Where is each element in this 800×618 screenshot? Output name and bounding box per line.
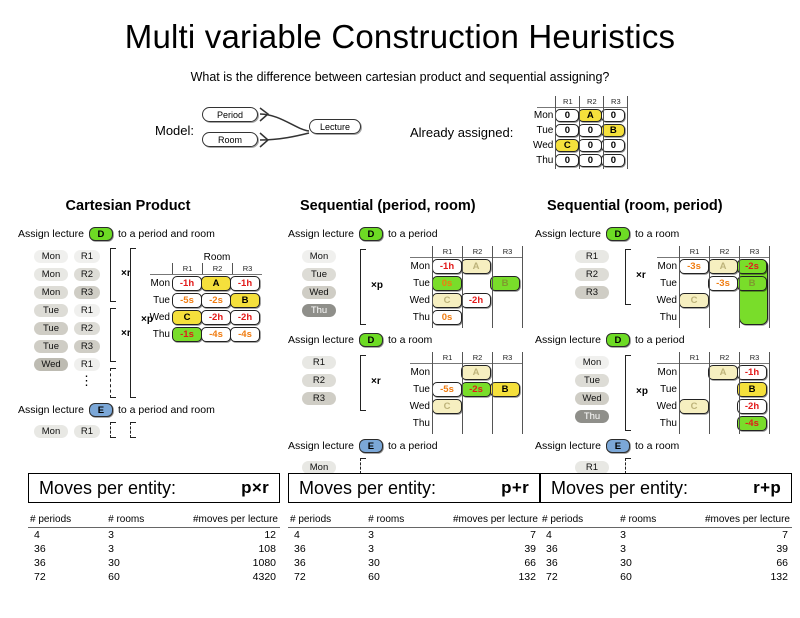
table-row: 4312 (28, 528, 280, 543)
assign-prefix-label: Assign lecture (18, 228, 84, 240)
grid-column-headers: R1R2R3 (679, 352, 769, 363)
already-assigned-label: Already assigned: (410, 125, 513, 140)
model-node-room[interactable]: Room (202, 132, 258, 147)
grid-vertical-rule (579, 96, 580, 169)
lecture-chip[interactable]: D (359, 227, 383, 241)
cell-periods: 36 (288, 556, 366, 570)
assign-prefix-label: Assign lecture (288, 334, 354, 346)
brace-outer-dashed (130, 422, 136, 438)
grid-cell[interactable]: -4s (737, 416, 767, 431)
assigned-grid-inner: R1R2R3Mon0A0Tue00BWedC00Thu000 (529, 96, 627, 168)
grid-cell[interactable]: A (461, 365, 491, 380)
already-assigned-block: Already assigned: R1R2R3Mon0A0Tue00BWedC… (410, 96, 627, 168)
grid-column-header: R3 (492, 352, 522, 363)
lecture-chip[interactable]: D (606, 227, 630, 241)
lecture-chip[interactable]: E (89, 403, 113, 417)
cell-moves: 66 (434, 556, 540, 570)
grid-cell[interactable]: 0 (578, 154, 602, 167)
lecture-chip[interactable]: D (606, 333, 630, 347)
cell-rooms: 3 (618, 542, 686, 556)
grid-cell[interactable]: -1h (172, 276, 202, 291)
grid-row: WedC00 (529, 138, 627, 153)
grid-cell[interactable]: -4s (230, 327, 260, 342)
grid-cell[interactable]: C (679, 399, 709, 414)
assign-suffix-label: to a period (388, 228, 438, 240)
candidate-tag[interactable]: R3 (575, 286, 609, 299)
grid-cell (461, 399, 491, 414)
table-header-rooms: # rooms (366, 513, 434, 528)
candidate-tag[interactable]: Wed (302, 286, 336, 299)
grid-row: WedC-2h-2h (142, 309, 262, 326)
list-item[interactable]: R2 (288, 370, 400, 388)
model-node-period[interactable]: Period (202, 107, 258, 122)
candidate-tag[interactable]: Mon (302, 250, 336, 263)
grid-column-header: R1 (172, 263, 202, 274)
grid-column-headers: R1R2R3 (555, 96, 627, 107)
grid-cell[interactable]: 0s (432, 276, 462, 291)
period-tag[interactable]: Wed (34, 358, 68, 371)
grid-cell[interactable]: -2h (201, 310, 231, 325)
list-item[interactable]: Mon (288, 246, 400, 264)
grid-cell[interactable]: 0 (601, 154, 625, 167)
brace-inner (360, 249, 366, 325)
table-row: 36339 (288, 542, 540, 556)
grid-vertical-rule (462, 246, 463, 328)
grid-cell[interactable]: -4s (201, 327, 231, 342)
moves-banner: Moves per entity:p×r (28, 473, 280, 503)
grid-cell (679, 310, 709, 325)
cell-periods: 4 (288, 528, 366, 543)
grid-row: Tue00B (529, 123, 627, 138)
grid-cell[interactable]: 0 (601, 139, 625, 152)
grid-cells: C-2h (432, 293, 522, 308)
period-tag[interactable]: Tue (34, 340, 68, 353)
assign-lecture-line: Assign lectureDto a period (535, 332, 795, 348)
cell-rooms: 3 (618, 528, 686, 543)
grid-row-label: Wed (529, 140, 555, 151)
cell-rooms: 30 (618, 556, 686, 570)
assign-lecture-line: Assign lectureDto a room (288, 332, 548, 348)
table-header-periods: # periods (288, 513, 366, 528)
grid-cells: C00 (555, 139, 624, 152)
page-title: Multi variable Construction Heuristics (0, 18, 800, 56)
candidate-tag[interactable]: Mon (575, 356, 609, 369)
table-row: 72604320 (28, 570, 280, 584)
grid-cell[interactable]: 0 (555, 109, 579, 122)
room-tag[interactable]: R1 (74, 250, 100, 263)
grid-row-label: Thu (529, 155, 555, 166)
cell-rooms: 30 (106, 556, 174, 570)
cell-periods: 36 (28, 556, 106, 570)
grid-row-label: Thu (649, 312, 679, 323)
grid-column-header: R1 (432, 246, 462, 257)
grid-vertical-rule (709, 352, 710, 434)
grid-cell (679, 365, 709, 380)
grid-row: Tue-5s-2sB (142, 292, 262, 309)
cell-periods: 4 (540, 528, 618, 543)
grid-row-label: Mon (649, 367, 679, 378)
grid-row-label: Wed (402, 295, 432, 306)
grid-cell[interactable]: 0 (555, 124, 579, 137)
grid-column-header: R3 (739, 352, 769, 363)
assign-prefix-label: Assign lecture (288, 440, 354, 452)
grid-cells: -1hA-1h (172, 276, 262, 291)
lecture-chip[interactable]: D (359, 333, 383, 347)
brace-inner (360, 355, 366, 411)
brace-inner (110, 308, 116, 362)
model-label: Model: (155, 123, 194, 138)
grid-cell (679, 382, 709, 397)
grid-wrapper: R1R2R3MonATue-5s-2sBWedCThu (402, 352, 522, 432)
grid-row-label: Tue (529, 125, 555, 136)
table-row: 363108 (28, 542, 280, 556)
list-item[interactable]: TueR2 (18, 318, 136, 336)
assign-suffix-label: to a room (388, 334, 432, 346)
cell-periods: 72 (288, 570, 366, 584)
assign-prefix-label: Assign lecture (535, 334, 601, 346)
grid-column-header: R1 (555, 96, 579, 107)
table-row: 7260132 (540, 570, 792, 584)
grid-cell[interactable]: -5s (172, 293, 202, 308)
grid-cell[interactable]: 0 (555, 154, 579, 167)
cell-moves: 7 (686, 528, 792, 543)
grid-cell (461, 416, 491, 431)
grid-caption: Room (172, 252, 262, 263)
period-tag[interactable]: Mon (34, 250, 68, 263)
moves-banner: Moves per entity:r+p (540, 473, 792, 503)
grid-cells: -3sB (679, 276, 769, 291)
grid-cell[interactable]: -2h (230, 310, 260, 325)
assign-suffix-label: to a period (635, 334, 685, 346)
grid-vertical-rule (769, 352, 770, 434)
grid-cell[interactable]: -1h (737, 365, 767, 380)
list-item[interactable]: Wed (288, 282, 400, 300)
period-tag[interactable]: Mon (34, 286, 68, 299)
grid-cell[interactable]: A (708, 259, 738, 274)
grid-cell[interactable]: -2h (737, 399, 767, 414)
grid-cell[interactable]: -1h (432, 259, 462, 274)
grid-cell (490, 310, 520, 325)
page-subtitle: What is the difference between cartesian… (0, 70, 800, 84)
grid-column-headers: R1R2R3 (432, 246, 522, 257)
grid-cell[interactable]: B (601, 124, 625, 137)
grid-column-headers: R1R2R3 (679, 246, 769, 257)
grid-cells: 0s (432, 310, 522, 325)
candidate-tag[interactable]: Wed (575, 392, 609, 405)
grid-wrapper: R1R2R3Mon-3sA-2sTue-3sBWedCThu (649, 246, 769, 326)
grid-row-label: Thu (142, 329, 172, 340)
already-assigned-grid: R1R2R3Mon0A0Tue00BWedC00Thu000 (529, 96, 627, 168)
grid-cell[interactable]: -3s (708, 276, 738, 291)
grid-cells: -5s-2sB (432, 382, 522, 397)
list-item[interactable]: R1 (288, 352, 400, 370)
assignment-grid: RoomR1R2R3Mon-1hA-1hTue-5s-2sBWedC-2h-2h… (142, 252, 262, 343)
room-tag[interactable]: R1 (74, 358, 100, 371)
grid-cell[interactable]: 0 (601, 109, 625, 122)
moves-banner-label: Moves per entity: (39, 478, 176, 499)
table-header-periods: # periods (540, 513, 618, 528)
room-tag[interactable]: R3 (74, 340, 100, 353)
grid-cells: -3sA-2s (679, 259, 769, 274)
list-item[interactable]: MonR3 (18, 282, 136, 300)
grid-vertical-rule (522, 246, 523, 328)
grid-vertical-rule (739, 246, 740, 328)
grid-row: Thu-1s-4s-4s (142, 326, 262, 343)
step-body: R1R2R3×rR1R2R3MonATue-5s-2sBWedCThu (288, 352, 548, 432)
columns-area: Cartesian ProductAssign lectureDto a per… (0, 198, 800, 473)
assign-lecture-line: Assign lectureDto a period and room (18, 226, 278, 242)
grid-column-headers: R1R2R3 (172, 263, 262, 274)
candidate-tag[interactable]: Thu (575, 410, 609, 423)
grid-cell[interactable]: A (201, 276, 231, 291)
cell-periods: 4 (28, 528, 106, 543)
grid-cell (432, 365, 462, 380)
grid-row-label: Mon (402, 261, 432, 272)
moves-table: # periods# rooms#moves per lecture437363… (288, 513, 540, 584)
grid-cell[interactable]: 0 (578, 139, 602, 152)
table-row: 437 (540, 528, 792, 543)
candidate-list: MonTueWedThu×p (535, 352, 647, 424)
grid-cell[interactable]: C (679, 293, 709, 308)
grid-cell[interactable]: B (737, 382, 767, 397)
grid-row-label: Mon (649, 261, 679, 272)
column-cartesian: Cartesian ProductAssign lectureDto a per… (18, 198, 278, 441)
grid-cell (432, 416, 462, 431)
model-node-lecture[interactable]: Lecture (309, 119, 361, 134)
grid-cell[interactable]: -2s (201, 293, 231, 308)
list-item[interactable]: WedR1 (18, 354, 136, 372)
room-tag[interactable]: R3 (74, 286, 100, 299)
table-header-moves: #moves per lecture (434, 513, 540, 528)
candidate-list: MonR1MonR2MonR3TueR1TueR2TueR3WedR1⋮×r×r… (18, 246, 136, 386)
grid-cells: C (679, 293, 769, 308)
grid-cell[interactable]: -1h (230, 276, 260, 291)
candidate-tag[interactable]: R1 (302, 356, 336, 369)
grid-row: Mon0A0 (529, 108, 627, 123)
column-title: Cartesian Product (18, 198, 278, 214)
cell-periods: 36 (28, 542, 106, 556)
step-body: R1R2R3×rR1R2R3Mon-3sA-2sTue-3sBWedCThu (535, 246, 795, 326)
assign-suffix-label: to a period (388, 440, 438, 452)
cell-moves: 12 (174, 528, 280, 543)
lecture-chip[interactable]: E (606, 439, 630, 453)
grid-wrapper: RoomR1R2R3Mon-1hA-1hTue-5s-2sBWedC-2h-2h… (142, 252, 262, 343)
assign-suffix-label: to a room (635, 440, 679, 452)
step-body: MonR1MonR2MonR3TueR1TueR2TueR3WedR1⋮×r×r… (18, 246, 278, 386)
list-item[interactable]: TueR3 (18, 336, 136, 354)
candidate-list: MonTueWedThu×p (288, 246, 400, 318)
cell-periods: 72 (540, 570, 618, 584)
grid-column-header: R2 (462, 352, 492, 363)
moves-banner-label: Moves per entity: (551, 478, 688, 499)
table-header-rooms: # rooms (106, 513, 174, 528)
grid-cell[interactable]: -2s (461, 382, 491, 397)
grid-cells: 00B (555, 124, 624, 137)
grid-column-header: R3 (739, 246, 769, 257)
cell-rooms: 30 (366, 556, 434, 570)
brace-inner-dashed (625, 458, 631, 474)
grid-cell[interactable]: A (578, 109, 602, 122)
candidate-tag[interactable]: R2 (302, 374, 336, 387)
grid-cell (490, 416, 520, 431)
candidate-tag[interactable]: R3 (302, 392, 336, 405)
moves-box-cartesian: Moves per entity:p×r# periods# rooms#mov… (28, 473, 280, 584)
slide-header: Multi variable Construction Heuristics W… (0, 18, 800, 178)
grid-cells: C-2h-2h (172, 310, 262, 325)
lecture-chip[interactable]: E (359, 439, 383, 453)
grid-cells: A-1h (679, 365, 769, 380)
candidate-list: R1R2R3×r (288, 352, 400, 406)
candidate-tag[interactable]: Tue (575, 374, 609, 387)
list-item[interactable]: MonR2 (18, 264, 136, 282)
brace-inner (625, 355, 631, 431)
candidate-tag[interactable]: Tue (302, 268, 336, 281)
grid-cell (461, 310, 491, 325)
grid-vertical-rule (432, 246, 433, 328)
assignment-grid: R1R2R3MonATue-5s-2sBWedCThu (402, 352, 522, 432)
candidate-tag[interactable]: R1 (575, 250, 609, 263)
column-title: Sequential (period, room) (288, 198, 548, 214)
grid-cells: B (679, 382, 769, 397)
grid-cells: -5s-2sB (172, 293, 262, 308)
period-tag[interactable]: Tue (34, 304, 68, 317)
grid-column-header: R2 (709, 246, 739, 257)
grid-cells: 0sB (432, 276, 522, 291)
assign-suffix-label: to a room (635, 228, 679, 240)
cell-moves: 132 (434, 570, 540, 584)
grid-cell[interactable]: -2s (737, 259, 767, 274)
grid-cell[interactable]: B (230, 293, 260, 308)
grid-cell[interactable]: -2h (461, 293, 491, 308)
assign-lecture-line-final: Assign lectureEto a period and room (18, 402, 278, 418)
grid-cell[interactable]: -5s (432, 382, 462, 397)
grid-cells (432, 416, 522, 431)
grid-cell[interactable]: -1s (172, 327, 202, 342)
grid-cells: C (432, 399, 522, 414)
assign-lecture-line-final: Assign lectureEto a period (288, 438, 548, 454)
grid-cell (490, 365, 520, 380)
cell-periods: 36 (288, 542, 366, 556)
grid-cell[interactable]: C (432, 293, 462, 308)
grid-row-label: Wed (649, 401, 679, 412)
multiplier-inner: ×r (636, 270, 646, 281)
grid-cell[interactable]: C (172, 310, 202, 325)
grid-cells: 0A0 (555, 109, 624, 122)
grid-vertical-rule (492, 246, 493, 328)
grid-cell[interactable]: B (737, 276, 767, 291)
grid-cell (679, 276, 709, 291)
grid-column-header: R3 (492, 246, 522, 257)
grid-vertical-rule (769, 246, 770, 328)
room-tag[interactable]: R2 (74, 268, 100, 281)
cell-moves: 4320 (174, 570, 280, 584)
step-grid: R1R2R3MonATue-5s-2sBWedCThu (402, 352, 522, 432)
table-row: 36339 (540, 542, 792, 556)
list-item[interactable]: TueR1 (18, 300, 136, 318)
grid-cell[interactable]: C (432, 399, 462, 414)
cell-moves: 132 (686, 570, 792, 584)
step-grid: RoomR1R2R3Mon-1hA-1hTue-5s-2sBWedC-2h-2h… (142, 252, 262, 343)
table-header-moves: #moves per lecture (686, 513, 792, 528)
grid-row-label: Tue (402, 384, 432, 395)
grid-row-label: Thu (649, 418, 679, 429)
grid-vertical-rule (739, 352, 740, 434)
grid-cells: -4s (679, 416, 769, 431)
grid-wrapper: R1R2R3Mon-1hATue0sBWedC-2hThu0s (402, 246, 522, 326)
table-row: 437 (288, 528, 540, 543)
grid-cell[interactable]: C (555, 139, 579, 152)
cell-moves: 39 (686, 542, 792, 556)
brace-inner (110, 248, 116, 302)
moves-box-seq-room-period: Moves per entity:r+p# periods# rooms#mov… (540, 473, 792, 584)
grid-cell (490, 399, 520, 414)
list-item[interactable]: R3 (288, 388, 400, 406)
grid-cell (708, 399, 738, 414)
step-body: MonTueWedThu×pR1R2R3Mon-1hATue0sBWedC-2h… (288, 246, 548, 326)
period-tag[interactable]: Tue (34, 322, 68, 335)
room-tag[interactable]: R1 (74, 304, 100, 317)
grid-cell[interactable]: B (490, 382, 520, 397)
candidate-tag[interactable]: R2 (575, 268, 609, 281)
grid-vertical-rule (522, 352, 523, 434)
grid-cell[interactable]: A (461, 259, 491, 274)
table-header-periods: # periods (28, 513, 106, 528)
grid-cell[interactable]: 0s (432, 310, 462, 325)
list-item[interactable]: MonR1 (18, 246, 136, 264)
grid-row-label: Wed (402, 401, 432, 412)
table-row: 363066 (540, 556, 792, 570)
list-item[interactable]: Thu (288, 300, 400, 318)
grid-row-label: Thu (402, 312, 432, 323)
grid-row-label: Mon (529, 110, 555, 121)
grid-cell[interactable]: B (490, 276, 520, 291)
assignment-grid: R1R2R3Mon-3sA-2sTue-3sBWedCThu (649, 246, 769, 326)
grid-vertical-rule (432, 352, 433, 434)
candidate-list: R1R2R3×r (535, 246, 647, 300)
grid-row-label: Tue (649, 278, 679, 289)
step-grid: R1R2R3MonA-1hTueBWedC-2hThu-4s (649, 352, 769, 432)
room-tag[interactable]: R1 (74, 425, 100, 438)
brace-inner-dashed (110, 368, 116, 398)
table-row: 363066 (288, 556, 540, 570)
grid-cell[interactable]: 0 (578, 124, 602, 137)
list-item[interactable]: Tue (288, 264, 400, 282)
model-diagram: Period Room Lecture (202, 106, 387, 154)
grid-row-label: Thu (402, 418, 432, 429)
room-tag[interactable]: R2 (74, 322, 100, 335)
grid-wrapper: R1R2R3MonA-1hTueBWedC-2hThu-4s (649, 352, 769, 432)
cell-moves: 66 (686, 556, 792, 570)
assignment-grid: R1R2R3MonA-1hTueBWedC-2hThu-4s (649, 352, 769, 432)
grid-cell[interactable]: A (708, 365, 738, 380)
assign-prefix-label: Assign lecture (535, 440, 601, 452)
period-tag[interactable]: Mon (34, 425, 68, 438)
candidate-tag[interactable]: Thu (302, 304, 336, 317)
grid-cell (737, 293, 767, 308)
grid-cell[interactable]: -3s (679, 259, 709, 274)
grid-row: Mon-1hA-1h (142, 275, 262, 292)
lecture-chip[interactable]: D (89, 227, 113, 241)
list-item[interactable]: MonR1 (18, 421, 278, 439)
grid-column-header: R1 (432, 352, 462, 363)
grid-row: Thu000 (529, 153, 627, 168)
assign-lecture-line-final: Assign lectureEto a room (535, 438, 795, 454)
grid-column-header: R2 (462, 246, 492, 257)
period-tag[interactable]: Mon (34, 268, 68, 281)
cell-periods: 36 (540, 556, 618, 570)
grid-column-header: R3 (232, 263, 262, 274)
grid-vertical-rule (679, 246, 680, 328)
